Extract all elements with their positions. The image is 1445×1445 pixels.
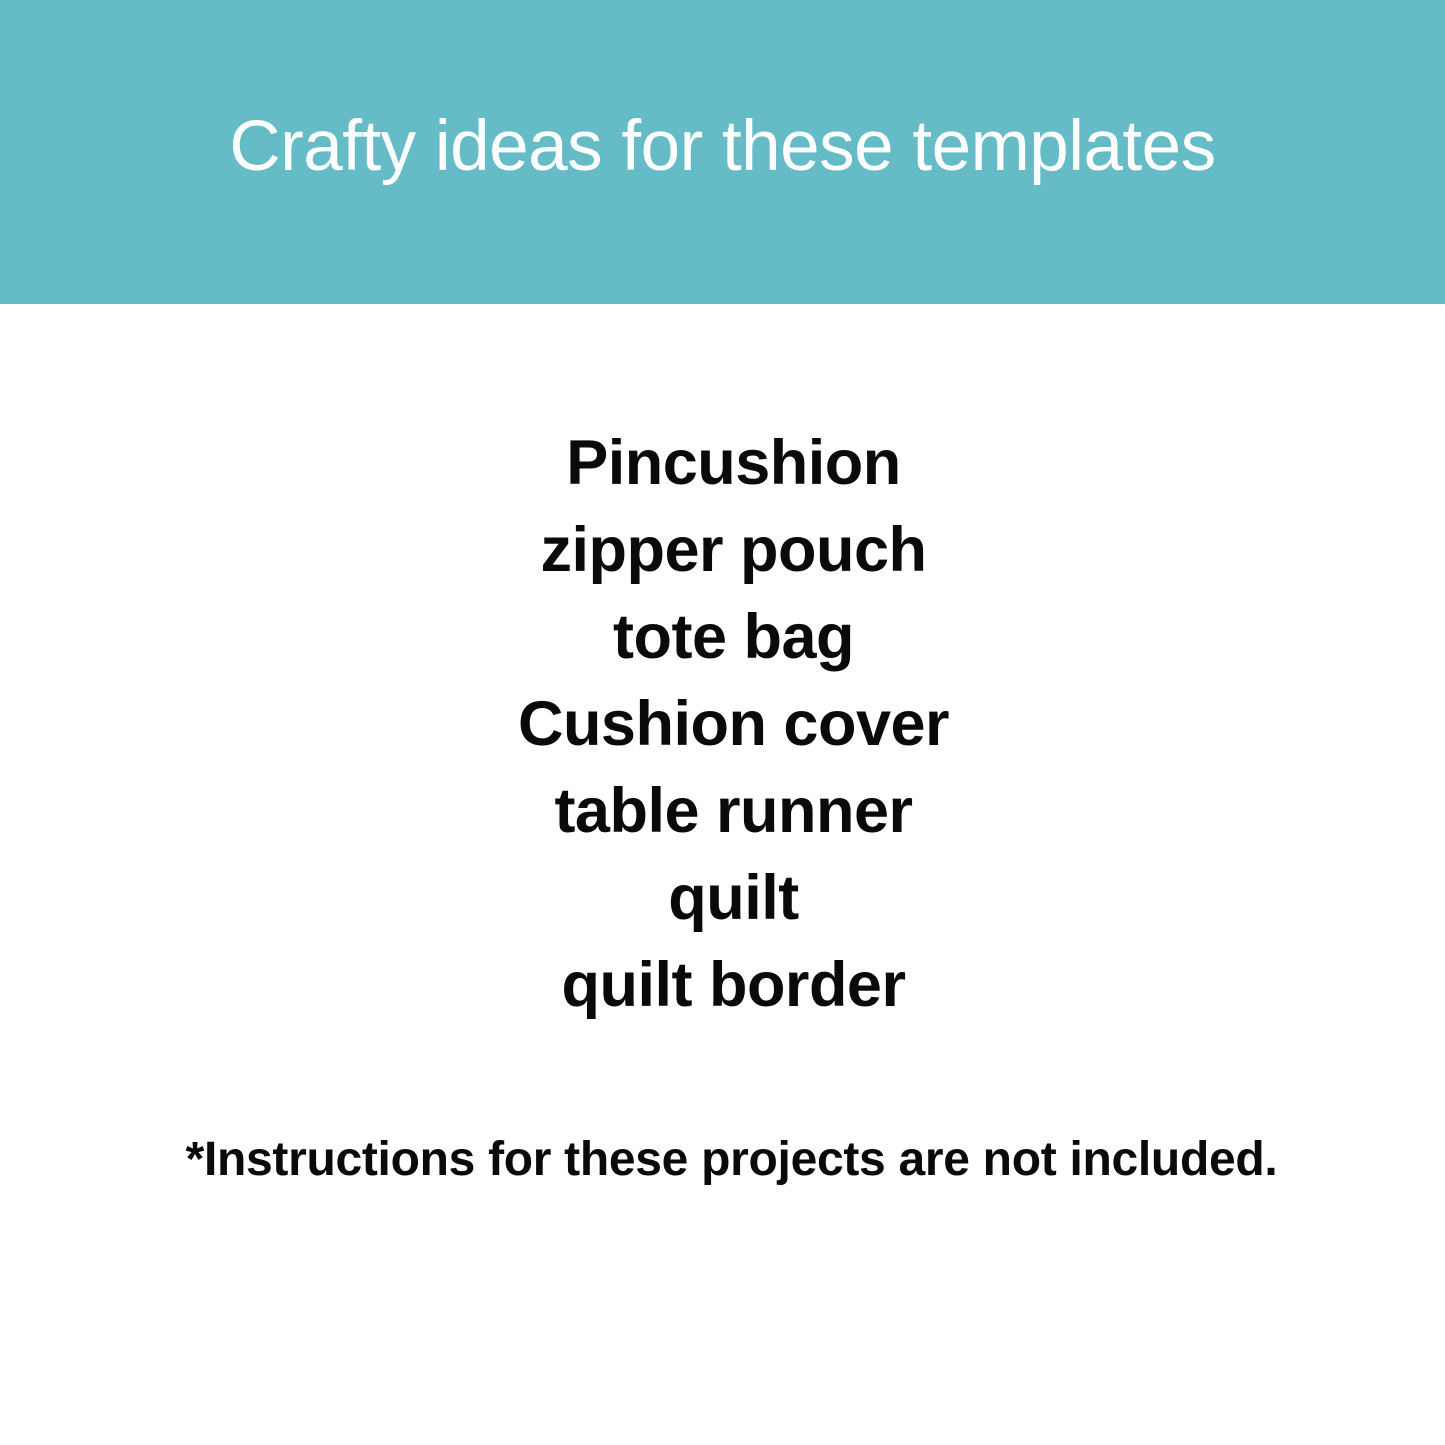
page-title: Crafty ideas for these templates [189, 108, 1255, 186]
list-item: quilt [0, 855, 1445, 942]
list-item: table runner [0, 768, 1445, 855]
footnote-disclaimer: *Instructions for these projects are not… [0, 1129, 1445, 1191]
list-item: tote bag [0, 594, 1445, 681]
list-item: quilt border [0, 942, 1445, 1029]
page-root: Crafty ideas for these templates Pincush… [0, 0, 1445, 1445]
list-item: zipper pouch [0, 507, 1445, 594]
list-item: Pincushion [0, 420, 1445, 507]
crafty-ideas-list: Pincushion zipper pouch tote bag Cushion… [0, 420, 1445, 1029]
header-band: Crafty ideas for these templates [0, 0, 1445, 304]
list-item: Cushion cover [0, 681, 1445, 768]
content-area: Pincushion zipper pouch tote bag Cushion… [0, 304, 1445, 1445]
